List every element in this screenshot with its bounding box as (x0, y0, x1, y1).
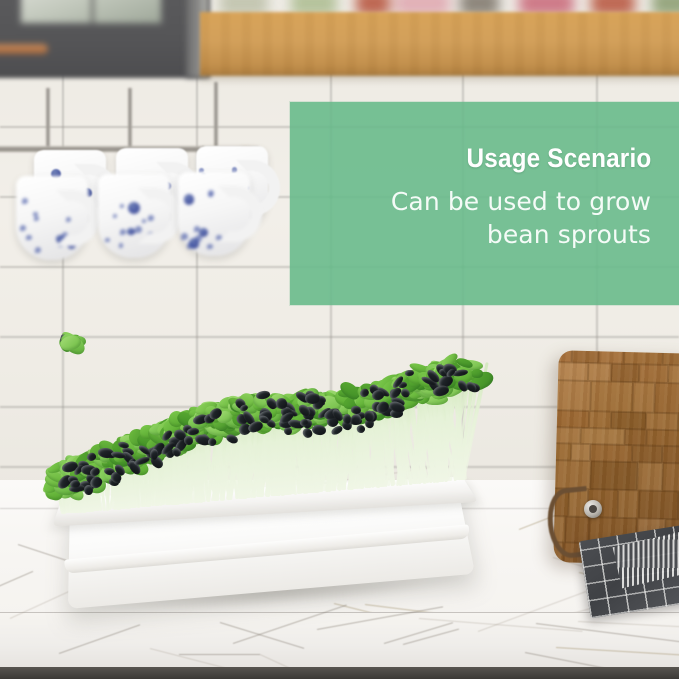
mug-blossom (184, 194, 194, 204)
board-block (580, 428, 624, 446)
board-block (571, 444, 590, 462)
mug-hook-3 (196, 146, 205, 172)
board-block (617, 490, 639, 518)
rail-post-right (214, 82, 218, 154)
mug-leaf-dot (20, 225, 27, 232)
counter-base-shadow (0, 667, 679, 679)
board-block (662, 350, 679, 365)
marble-vein (0, 571, 33, 591)
marble-vein (59, 624, 140, 654)
mug-leaf-dot (194, 226, 200, 232)
counter-front-edge (0, 612, 679, 667)
board-block (553, 410, 589, 428)
board-block (662, 463, 679, 492)
board-eyelet (584, 500, 602, 518)
mug-leaf-dot (120, 204, 124, 208)
board-block (611, 363, 639, 382)
mug-leaf-dot (113, 214, 117, 218)
board-block (553, 427, 581, 444)
microgreens (60, 336, 460, 524)
panel-title: Usage Scenario (466, 144, 651, 172)
mug-leaf-dot (26, 235, 32, 241)
mug-leaf-dot (22, 198, 28, 204)
mug-handle (218, 186, 262, 242)
marble-vein (220, 622, 305, 649)
wooden-shelf (200, 12, 679, 76)
mug-leaf-dot (119, 243, 124, 248)
board-block (647, 429, 679, 446)
marble-vein (403, 629, 459, 645)
cabinet-window (18, 0, 164, 26)
seed-hull (184, 436, 193, 445)
board-block (589, 411, 612, 428)
shelf-shadow (200, 74, 679, 84)
board-block (571, 350, 599, 363)
board-block (553, 443, 571, 461)
usage-scenario-panel: Usage Scenario Can be used to grow bean … (290, 102, 679, 305)
mug-hook-1 (34, 150, 43, 176)
board-block (590, 444, 633, 462)
marble-vein (179, 654, 260, 655)
board-block (668, 365, 679, 384)
board-block (599, 350, 624, 363)
board-block (611, 412, 646, 430)
seed-hull (304, 392, 319, 404)
product-photo-canvas: Usage Scenario Can be used to grow bean … (0, 0, 679, 679)
board-block (590, 461, 638, 490)
board-block (637, 463, 662, 492)
sprout-leaf (471, 369, 483, 378)
board-block (633, 382, 656, 412)
mug-leaf-dot (181, 233, 188, 240)
board-block (662, 446, 679, 464)
board-block (624, 350, 663, 364)
mug-leaf-dot (34, 216, 39, 221)
mug-leaf-dot (207, 244, 213, 250)
mug-leaf-dot (33, 212, 37, 216)
board-block (624, 429, 647, 446)
upper-cabinet (0, 0, 210, 78)
mug-handle (138, 188, 182, 244)
board-block (654, 383, 679, 414)
marble-vein (536, 623, 679, 648)
mug-leaf-dot (105, 238, 110, 243)
mug-leaf-dot (209, 193, 214, 198)
board-block (553, 380, 591, 411)
board-block (632, 445, 663, 463)
mug-3 (178, 172, 274, 268)
board-block (553, 362, 589, 382)
marble-vein (556, 647, 679, 658)
board-block (639, 491, 678, 520)
board-block (588, 363, 611, 382)
mug-handle (56, 190, 100, 246)
board-block (638, 364, 668, 383)
mug-leaf-dot (195, 235, 202, 242)
mug-blossom (127, 228, 135, 236)
marble-vein (578, 621, 679, 628)
cabinet-handle (0, 44, 48, 54)
board-block (645, 413, 677, 430)
board-block (591, 381, 634, 412)
mug-leaf-dot (120, 229, 126, 235)
mug-leaf-dot (35, 247, 41, 253)
mug-hook-2 (116, 148, 125, 174)
panel-subtitle: Can be used to grow bean sprouts (321, 186, 651, 251)
